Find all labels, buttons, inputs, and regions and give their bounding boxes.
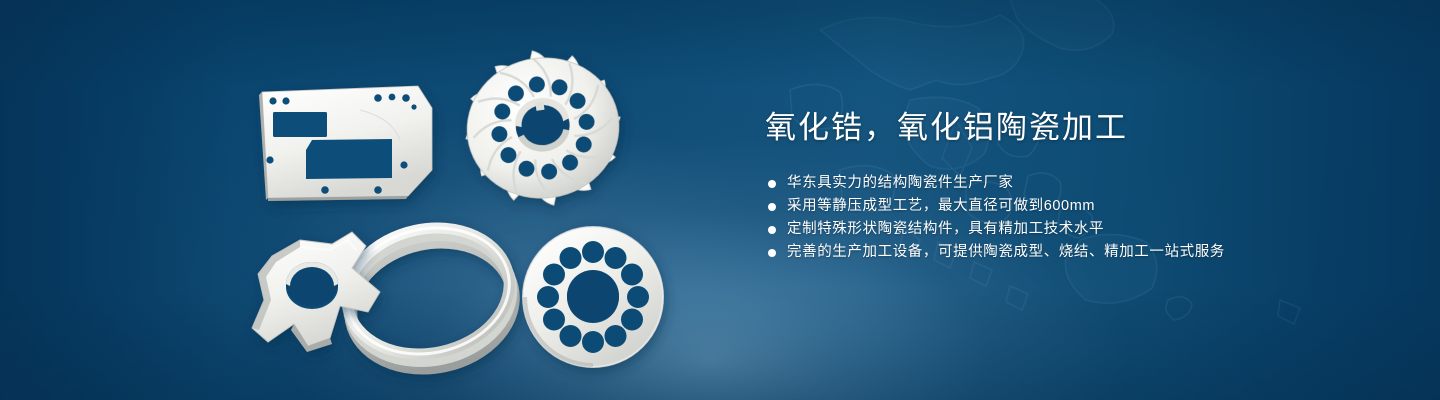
page-title: 氧化锆，氧化铝陶瓷加工 [765,108,1365,148]
product-photo-cluster [0,0,720,400]
list-item: 采用等静压成型工艺，最大直径可做到600mm [765,195,1365,218]
list-item: 华东具实力的结构陶瓷件生产厂家 [765,172,1365,195]
list-item: 完善的生产加工设备，可提供陶瓷成型、烧结、精加工一站式服务 [765,241,1365,264]
ceramic-hole-disc [523,227,663,367]
bullet-dot-icon [768,226,776,234]
bullet-dot-icon [768,203,776,211]
feature-list: 华东具实力的结构陶瓷件生产厂家 采用等静压成型工艺，最大直径可做到600mm 定… [765,172,1365,264]
promo-banner: 氧化锆，氧化铝陶瓷加工 华东具实力的结构陶瓷件生产厂家 采用等静压成型工艺，最大… [0,0,1440,400]
feature-text: 采用等静压成型工艺，最大直径可做到600mm [787,195,1095,218]
feature-text: 定制特殊形状陶瓷结构件，具有精加工技术水平 [787,218,1104,241]
ceramic-impeller [455,40,631,216]
ceramic-plate [259,86,432,201]
list-item: 定制特殊形状陶瓷结构件，具有精加工技术水平 [765,218,1365,241]
feature-text: 华东具实力的结构陶瓷件生产厂家 [787,172,1014,195]
bullet-dot-icon [768,180,776,188]
feature-text: 完善的生产加工设备，可提供陶瓷成型、烧结、精加工一站式服务 [787,241,1225,264]
banner-text-block: 氧化锆，氧化铝陶瓷加工 华东具实力的结构陶瓷件生产厂家 采用等静压成型工艺，最大… [765,108,1365,264]
bullet-dot-icon [768,249,776,257]
